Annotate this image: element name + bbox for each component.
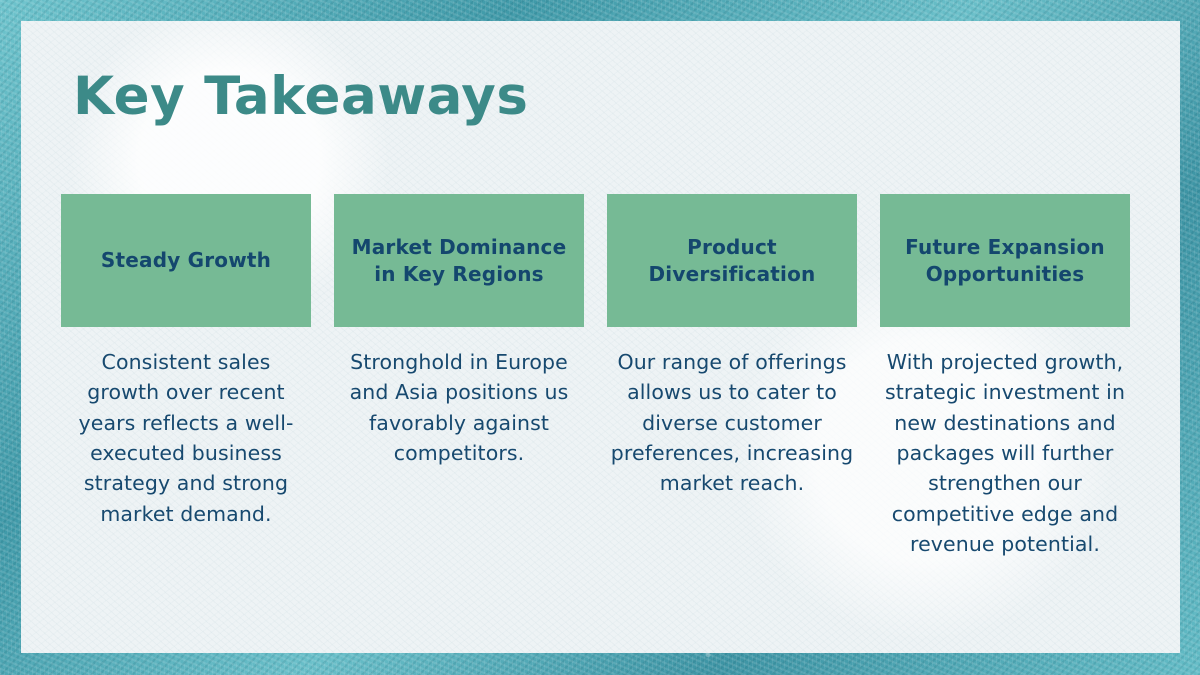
takeaway-column: Steady Growth Consistent sales growth ov… xyxy=(61,194,311,529)
page-title: Key Takeaways xyxy=(73,68,528,126)
takeaway-body-text: Consistent sales growth over recent year… xyxy=(61,347,311,529)
takeaway-header-card: Market Dominance in Key Regions xyxy=(334,194,584,327)
takeaways-columns: Steady Growth Consistent sales growth ov… xyxy=(61,194,1142,559)
takeaway-header-label: Product Diversification xyxy=(617,234,847,287)
takeaway-body-text: Our range of offerings allows us to cate… xyxy=(607,347,857,499)
takeaway-column: Product Diversification Our range of off… xyxy=(607,194,857,499)
takeaway-column: Market Dominance in Key Regions Strongho… xyxy=(334,194,584,468)
takeaway-header-label: Market Dominance in Key Regions xyxy=(344,234,574,287)
takeaway-header-card: Product Diversification xyxy=(607,194,857,327)
takeaway-header-card: Future Expansion Opportunities xyxy=(880,194,1130,327)
takeaway-body-text: Stronghold in Europe and Asia positions … xyxy=(334,347,584,468)
takeaway-header-label: Steady Growth xyxy=(101,247,271,273)
takeaway-header-label: Future Expansion Opportunities xyxy=(890,234,1120,287)
takeaway-body-text: With projected growth, strategic investm… xyxy=(880,347,1130,559)
slide-content-panel: Key Takeaways Steady Growth Consistent s… xyxy=(21,21,1180,653)
takeaway-header-card: Steady Growth xyxy=(61,194,311,327)
slide-root: Key Takeaways Steady Growth Consistent s… xyxy=(0,0,1200,675)
takeaway-column: Future Expansion Opportunities With proj… xyxy=(880,194,1130,559)
